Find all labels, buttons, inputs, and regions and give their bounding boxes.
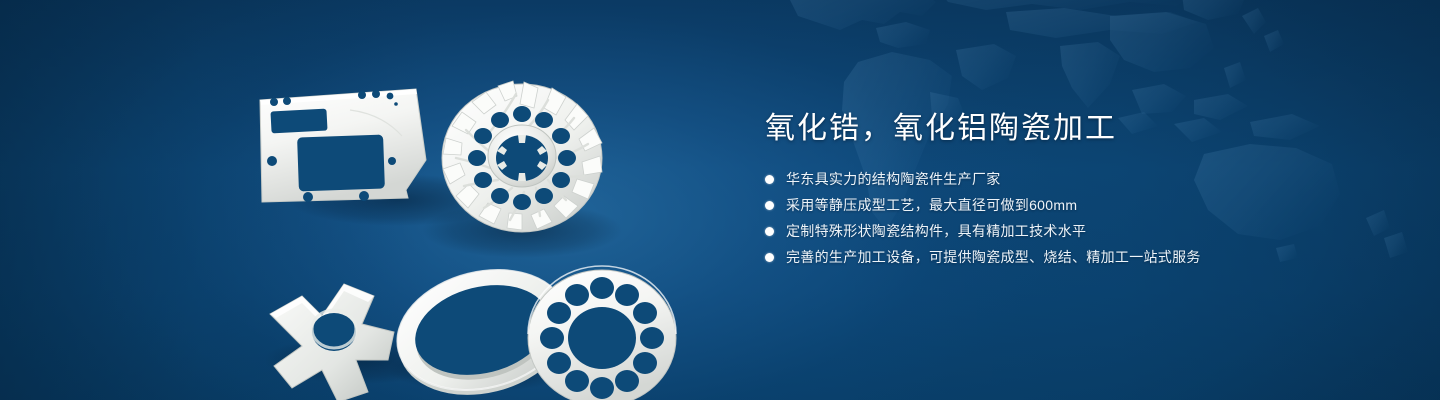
page-title: 氧化锆，氧化铝陶瓷加工: [765, 108, 1385, 150]
list-item-label: 采用等静压成型工艺，最大直径可做到600mm: [786, 195, 1077, 215]
list-item: 定制特殊形状陶瓷结构件，具有精加工技术水平: [765, 220, 1385, 242]
product-photo-ceramic-parts: [230, 40, 730, 385]
bullet-dot-icon: [765, 175, 774, 184]
bullet-dot-icon: [765, 201, 774, 210]
list-item: 完善的生产加工设备，可提供陶瓷成型、烧结、精加工一站式服务: [765, 246, 1385, 268]
hero-banner: 氧化锆，氧化铝陶瓷加工 华东具实力的结构陶瓷件生产厂家 采用等静压成型工艺，最大…: [0, 0, 1440, 400]
feature-list: 华东具实力的结构陶瓷件生产厂家 采用等静压成型工艺，最大直径可做到600mm 定…: [765, 168, 1385, 268]
bullet-dot-icon: [765, 253, 774, 262]
list-item-label: 完善的生产加工设备，可提供陶瓷成型、烧结、精加工一站式服务: [786, 247, 1201, 267]
list-item-label: 华东具实力的结构陶瓷件生产厂家: [786, 169, 1001, 189]
bullet-dot-icon: [765, 227, 774, 236]
list-item: 采用等静压成型工艺，最大直径可做到600mm: [765, 194, 1385, 216]
list-item-label: 定制特殊形状陶瓷结构件，具有精加工技术水平: [786, 221, 1086, 241]
ceramic-perforated-disc-shape: [528, 266, 676, 400]
list-item: 华东具实力的结构陶瓷件生产厂家: [765, 168, 1385, 190]
ceramic-impeller-shape: [442, 81, 602, 232]
ceramic-plate-shape: [260, 89, 426, 202]
banner-copy: 氧化锆，氧化铝陶瓷加工 华东具实力的结构陶瓷件生产厂家 采用等静压成型工艺，最大…: [765, 108, 1385, 272]
